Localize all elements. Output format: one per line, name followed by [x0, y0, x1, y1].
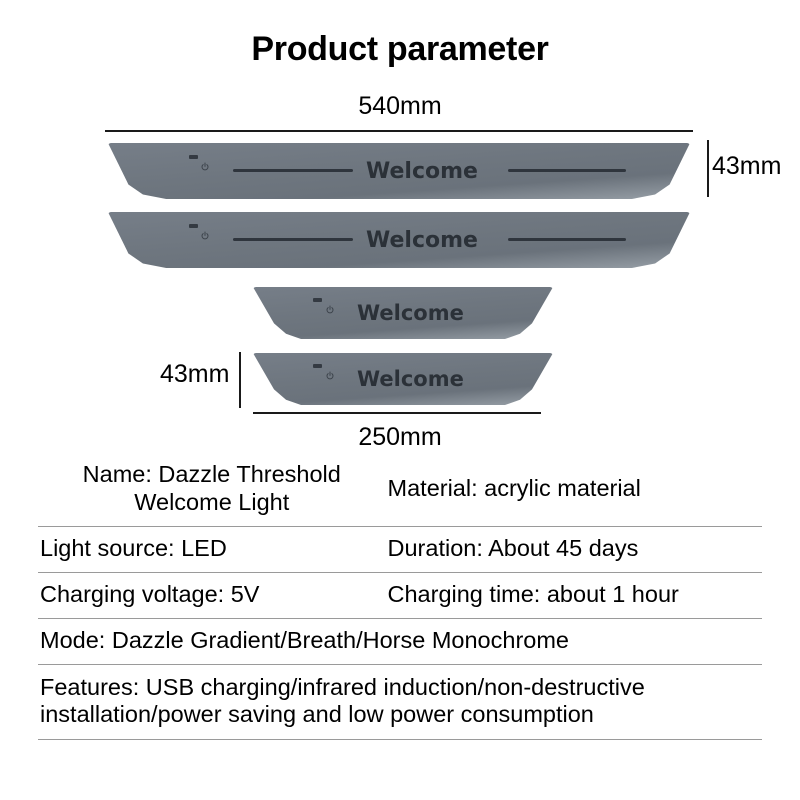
decor-line-left [233, 169, 353, 172]
decor-line-left [233, 238, 353, 241]
sensor-indicator-icon [313, 364, 322, 368]
dimension-line-width-large [105, 130, 693, 132]
product-dimension-diagram: 540mm 43mm Welcome [0, 0, 800, 455]
power-icon [200, 231, 210, 241]
product-bar-small-1: Welcome [253, 287, 553, 339]
decor-line-right [508, 169, 626, 172]
dimension-label-width-small: 250mm [180, 423, 620, 452]
spec-charging-voltage: Charging voltage: 5V [38, 573, 386, 618]
power-icon [325, 305, 335, 315]
spec-light-source: Light source: LED [38, 527, 386, 572]
table-row: Light source: LED Duration: About 45 day… [38, 527, 762, 573]
welcome-text: Welcome [366, 159, 478, 184]
product-bar-large-2: Welcome [108, 212, 690, 268]
sensor-indicator-icon [189, 155, 198, 159]
dimension-label-width-large: 540mm [0, 92, 800, 121]
welcome-text: Welcome [357, 301, 464, 325]
sensor-indicator-icon [313, 298, 322, 302]
decor-line-right [508, 238, 626, 241]
spec-features: Features: USB charging/infrared inductio… [38, 665, 762, 739]
table-row: Mode: Dazzle Gradient/Breath/Horse Monoc… [38, 619, 762, 665]
product-bar-small-2: Welcome [253, 353, 553, 405]
table-row: Features: USB charging/infrared inductio… [38, 665, 762, 740]
spec-duration: Duration: About 45 days [386, 527, 762, 572]
spec-charging-time: Charging time: about 1 hour [386, 573, 762, 618]
spec-material: Material: acrylic material [386, 452, 762, 526]
power-icon [325, 371, 335, 381]
sensor-indicator-icon [189, 224, 198, 228]
welcome-text: Welcome [366, 228, 478, 253]
dimension-label-height-small: 43mm [160, 360, 229, 389]
dimension-line-height-large [707, 140, 709, 197]
dimension-label-height-large: 43mm [712, 152, 781, 181]
power-icon [200, 162, 210, 172]
spec-mode: Mode: Dazzle Gradient/Breath/Horse Monoc… [38, 619, 762, 664]
welcome-text: Welcome [357, 367, 464, 391]
table-row: Charging voltage: 5V Charging time: abou… [38, 573, 762, 619]
dimension-line-height-small [239, 352, 241, 408]
specification-table: Name: Dazzle Threshold Welcome Light Mat… [38, 452, 762, 740]
spec-name: Name: Dazzle Threshold Welcome Light [38, 452, 386, 526]
product-bar-large-1: Welcome [108, 143, 690, 199]
table-row: Name: Dazzle Threshold Welcome Light Mat… [38, 452, 762, 527]
dimension-line-width-small [253, 412, 541, 414]
